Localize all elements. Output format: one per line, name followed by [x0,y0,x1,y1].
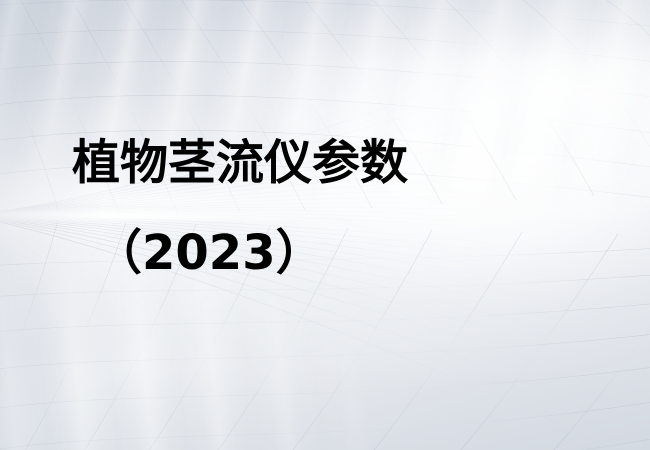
page-title: 植物茎流仪参数 [72,134,408,192]
title-slide: 植物茎流仪参数 （2023） [0,0,650,450]
title-text-block: 植物茎流仪参数 （2023） [0,0,650,450]
page-subtitle-year: （2023） [94,224,324,282]
